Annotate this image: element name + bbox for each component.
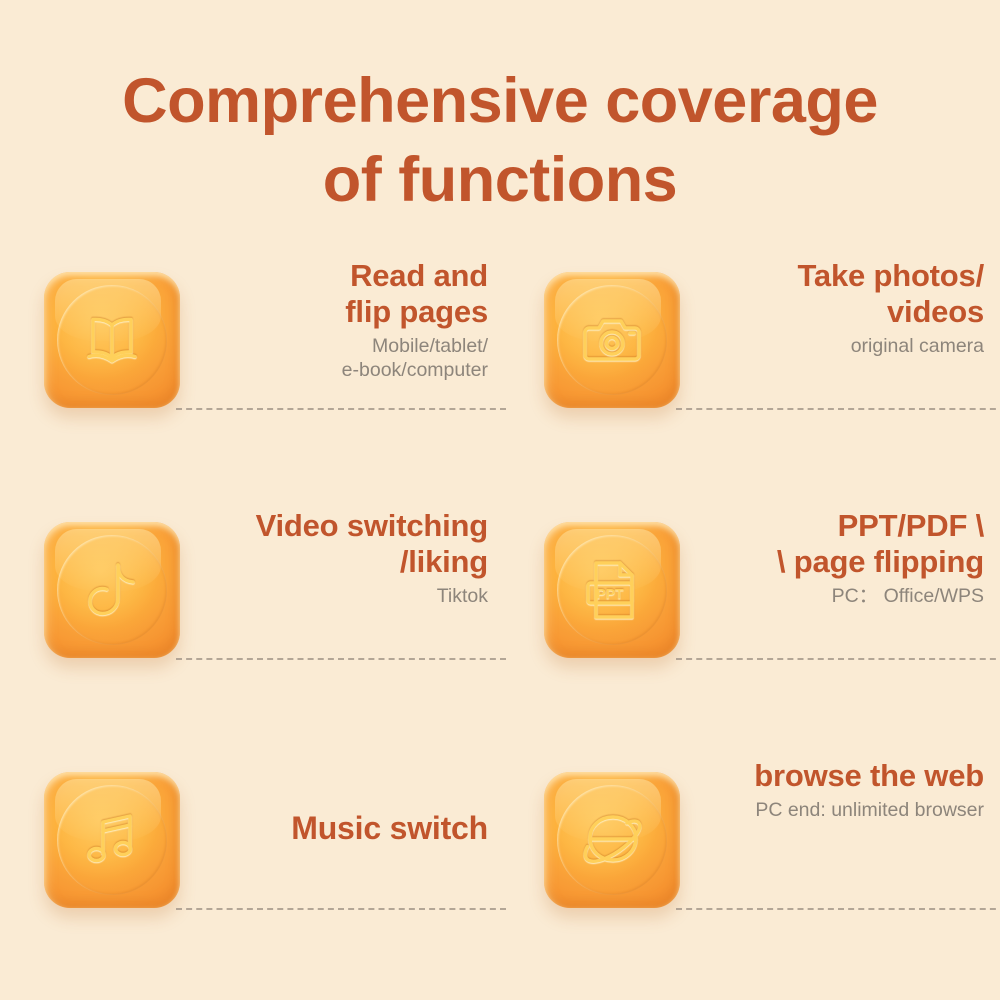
feature-subtitle: original camera bbox=[694, 334, 984, 359]
feature-card-take-photos-videos[interactable]: Take photos/ videos original camera bbox=[544, 258, 974, 436]
keycap-take-photos-videos[interactable] bbox=[544, 272, 680, 408]
infographic-poster: Comprehensive coverage of functions bbox=[0, 0, 1000, 1000]
feature-title: Music switch bbox=[198, 810, 488, 847]
feature-title: PPT/PDF \ \ page flipping bbox=[694, 508, 984, 580]
feature-text-block: PPT/PDF \ \ page flipping PC： Office/WPS bbox=[694, 508, 984, 608]
feature-subtitle: PC end: unlimited browser bbox=[694, 798, 984, 823]
feature-divider bbox=[676, 658, 1000, 660]
feature-divider bbox=[176, 908, 506, 910]
open-book-icon bbox=[44, 272, 180, 408]
feature-subtitle: Mobile/tablet/ e-book/computer bbox=[198, 334, 488, 383]
keycap-browse-the-web[interactable] bbox=[544, 772, 680, 908]
feature-title: browse the web bbox=[694, 758, 984, 794]
feature-text-block: Read and flip pages Mobile/tablet/ e-boo… bbox=[198, 258, 488, 383]
feature-card-browse-the-web[interactable]: browse the web PC end: unlimited browser bbox=[544, 758, 974, 936]
feature-text-block: browse the web PC end: unlimited browser bbox=[694, 758, 984, 823]
feature-subtitle: Tiktok bbox=[198, 584, 488, 609]
feature-title: Take photos/ videos bbox=[694, 258, 984, 330]
feature-title: Read and flip pages bbox=[198, 258, 488, 330]
feature-row: Read and flip pages Mobile/tablet/ e-boo… bbox=[0, 258, 1000, 508]
feature-divider bbox=[676, 908, 1000, 910]
feature-text-block: Video switching /liking Tiktok bbox=[198, 508, 488, 608]
page-title-line-2: of functions bbox=[0, 141, 1000, 220]
feature-subtitle: PC： Office/WPS bbox=[694, 584, 984, 609]
feature-card-video-switching-liking[interactable]: Video switching /liking Tiktok bbox=[44, 508, 474, 686]
feature-divider bbox=[676, 408, 1000, 410]
feature-title: Video switching /liking bbox=[198, 508, 488, 580]
tiktok-note-icon bbox=[44, 522, 180, 658]
feature-card-music-switch[interactable]: Music switch bbox=[44, 758, 474, 936]
keycap-ppt-pdf-page-flipping[interactable]: PPT bbox=[544, 522, 680, 658]
feature-grid: Read and flip pages Mobile/tablet/ e-boo… bbox=[0, 258, 1000, 1000]
feature-text-block: Take photos/ videos original camera bbox=[694, 258, 984, 358]
svg-text:PPT: PPT bbox=[596, 586, 624, 602]
ppt-document-icon: PPT bbox=[544, 522, 680, 658]
internet-explorer-icon bbox=[544, 772, 680, 908]
keycap-music-switch[interactable] bbox=[44, 772, 180, 908]
feature-card-read-and-flip-pages[interactable]: Read and flip pages Mobile/tablet/ e-boo… bbox=[44, 258, 474, 436]
feature-divider bbox=[176, 658, 506, 660]
camera-icon bbox=[544, 272, 680, 408]
feature-text-block: Music switch bbox=[198, 810, 488, 847]
page-title-line-1: Comprehensive coverage bbox=[0, 62, 1000, 141]
page-title: Comprehensive coverage of functions bbox=[0, 62, 1000, 221]
music-note-icon bbox=[44, 772, 180, 908]
feature-divider bbox=[176, 408, 506, 410]
keycap-read-and-flip-pages[interactable] bbox=[44, 272, 180, 408]
keycap-video-switching-liking[interactable] bbox=[44, 522, 180, 658]
feature-card-ppt-pdf-page-flipping[interactable]: PPT PPT/PDF \ \ page flipping PC： Office… bbox=[544, 508, 974, 686]
feature-row: Music switch bbox=[0, 758, 1000, 1000]
feature-row: Video switching /liking Tiktok PPT bbox=[0, 508, 1000, 758]
